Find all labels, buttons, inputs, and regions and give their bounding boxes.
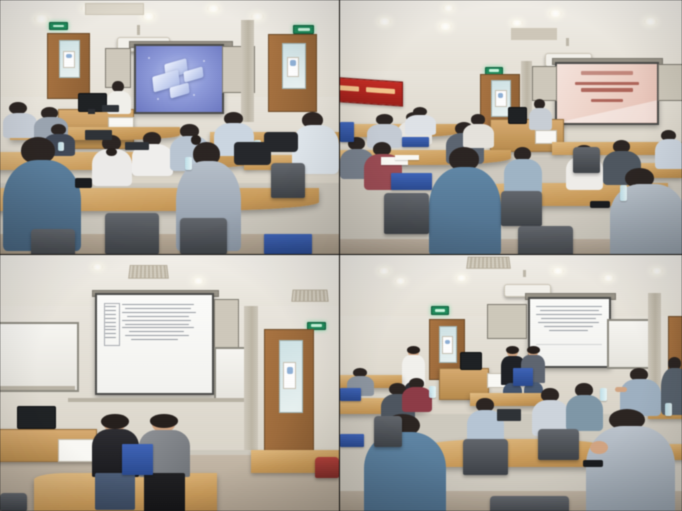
ceiling-light	[378, 18, 391, 25]
water-bottle	[600, 388, 607, 401]
attendee	[463, 114, 494, 147]
door[interactable]	[264, 329, 313, 454]
projection-screen	[134, 44, 224, 114]
red-banner	[340, 76, 404, 106]
attendee	[504, 147, 542, 193]
chair	[463, 439, 507, 475]
side-panel	[658, 64, 682, 102]
ceiling-light	[439, 23, 452, 30]
wall-column	[241, 20, 255, 122]
laptop	[85, 130, 112, 140]
projector-mount	[137, 25, 140, 35]
chair	[573, 147, 600, 172]
blue-document-box	[402, 137, 429, 147]
attendee-front	[429, 147, 501, 254]
wall-column	[244, 306, 258, 449]
attendee	[467, 398, 505, 444]
attendee	[532, 388, 570, 434]
ceiling-vent	[128, 265, 169, 279]
speaker	[528, 99, 552, 129]
door-left[interactable]	[47, 33, 90, 99]
side-panel	[532, 66, 558, 101]
podium-monitor	[460, 352, 483, 369]
ceiling-vent	[291, 290, 328, 302]
photo-top-right	[340, 0, 682, 255]
projection-screen	[555, 62, 658, 124]
attendee	[405, 107, 436, 135]
photo-bottom-left	[0, 255, 340, 511]
papers	[395, 155, 419, 160]
attendee	[402, 378, 433, 411]
blue-certificate-folder	[122, 444, 153, 475]
phone	[75, 178, 92, 188]
phone	[583, 460, 604, 468]
chair	[501, 191, 542, 227]
ceiling-light	[251, 13, 264, 20]
attendee-front-right	[610, 168, 682, 255]
podium-monitor	[508, 107, 527, 124]
ceiling-light	[552, 268, 564, 274]
slide-content	[97, 295, 212, 392]
side-panel	[487, 304, 527, 339]
whiteboard-left	[0, 322, 79, 393]
ceiling-light	[644, 18, 657, 25]
blue-document-box	[391, 173, 432, 191]
whiteboard-tray	[0, 386, 75, 391]
water-bottle	[58, 142, 65, 151]
photo-top-left	[0, 0, 340, 255]
water-bottle	[185, 157, 192, 170]
slide-content	[136, 46, 222, 112]
slide-content	[557, 64, 656, 122]
attendee	[3, 102, 37, 138]
blue-document-box	[340, 434, 364, 447]
chair	[374, 416, 401, 447]
chair	[180, 218, 227, 254]
chair-red	[315, 457, 339, 477]
chair	[538, 429, 579, 460]
podium-monitor	[17, 406, 56, 428]
blue-folder	[264, 234, 311, 254]
exit-sign	[431, 306, 449, 314]
projector-mount	[523, 270, 526, 277]
laptop	[497, 409, 521, 422]
water-bottle	[665, 403, 672, 416]
blue-document-box	[340, 388, 361, 401]
door-right[interactable]	[268, 34, 317, 112]
ceiling-light	[651, 268, 663, 274]
monitor-stand	[88, 109, 95, 114]
ceiling-light	[92, 264, 103, 270]
ceiling-panel	[511, 28, 557, 40]
whiteboard-tray	[68, 398, 244, 402]
chair	[105, 213, 159, 254]
attendee	[132, 132, 173, 175]
projection-screen	[95, 293, 214, 394]
attendee	[655, 130, 682, 168]
chair	[490, 496, 569, 511]
laptop	[125, 142, 149, 150]
chair	[31, 229, 75, 255]
ceiling-vent	[466, 257, 511, 269]
chair	[384, 193, 428, 234]
ceiling-light	[378, 268, 390, 274]
ceiling-light	[207, 5, 220, 12]
podium-laptop	[102, 105, 119, 111]
chair	[271, 163, 305, 199]
ceiling-panel	[85, 3, 145, 15]
bag	[264, 132, 298, 152]
chair	[518, 226, 573, 255]
photo-collage	[0, 0, 682, 511]
chair	[0, 493, 27, 511]
exit-sign-left	[49, 22, 68, 31]
ceiling-light	[549, 10, 562, 17]
ceiling-light	[443, 5, 454, 11]
projector-mount	[566, 38, 569, 46]
attendee-clapping	[620, 368, 661, 414]
phone	[590, 201, 611, 209]
ceiling-light	[395, 278, 406, 284]
water-bottle	[429, 386, 436, 399]
water-bottle	[620, 185, 627, 200]
exit-sign-right	[293, 25, 314, 34]
blue-certificate-folder	[513, 368, 534, 386]
blue-document-box	[340, 122, 354, 142]
photo-bottom-right	[340, 255, 682, 511]
